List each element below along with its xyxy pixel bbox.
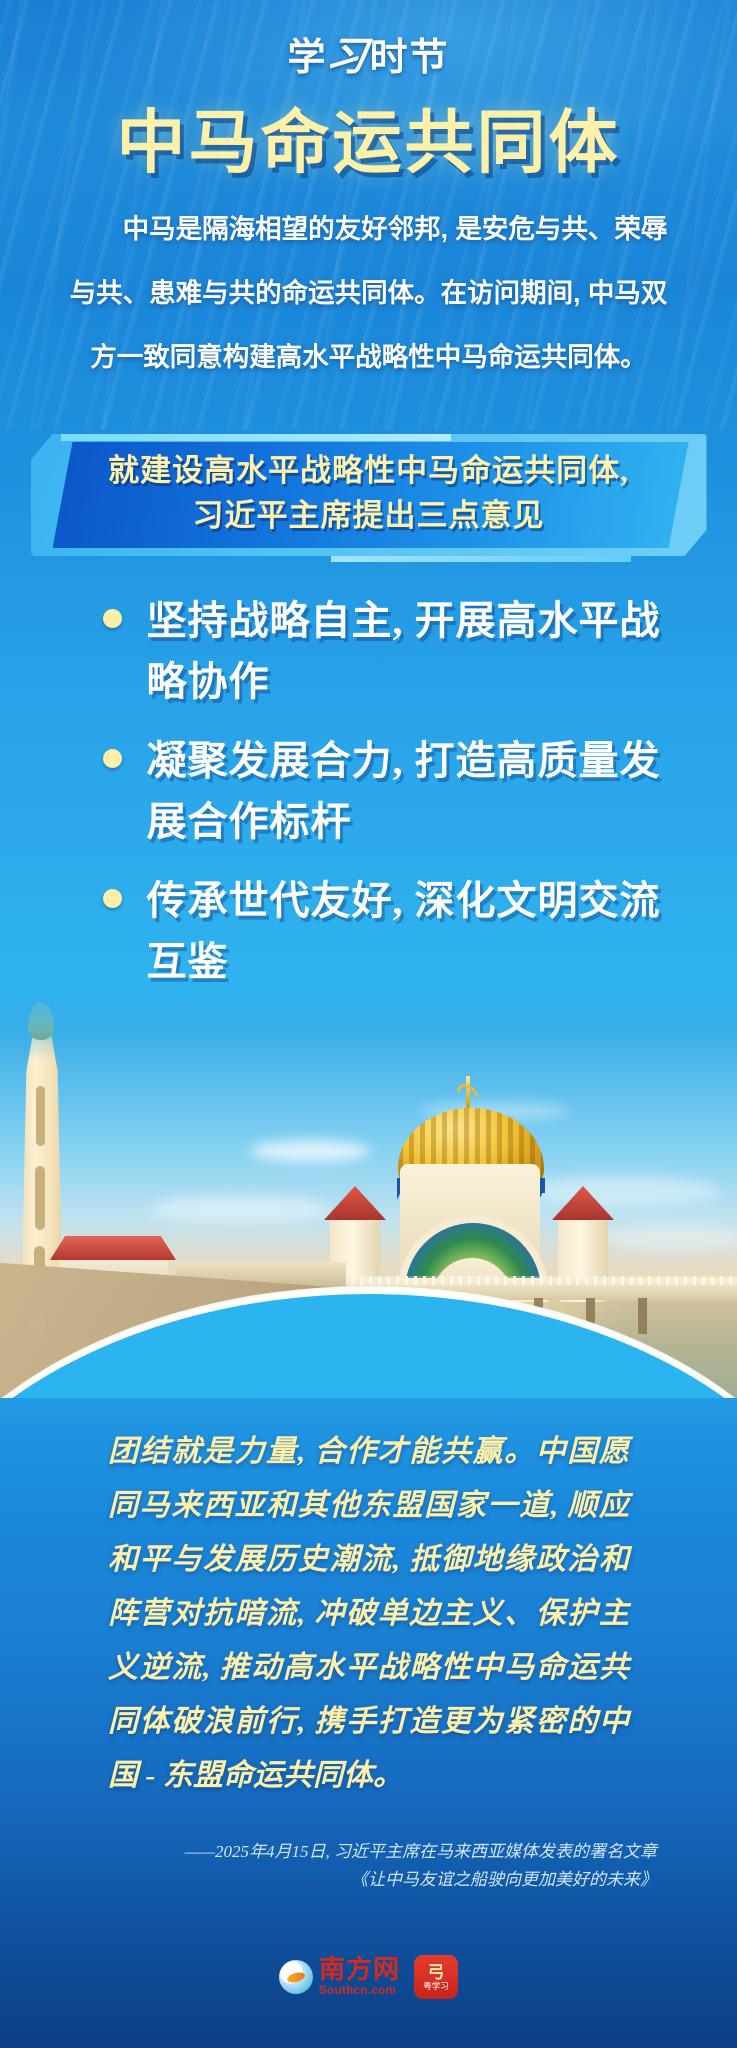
yuexuexi-label: 粤学习 — [423, 1982, 449, 1991]
bullet-dot-icon — [103, 749, 122, 768]
brand-logo: 学习时节 — [0, 0, 737, 74]
bullet-text: 凝聚发展合力, 打造高质量发展合作标杆 — [147, 738, 661, 844]
bullet-dot-icon — [103, 889, 122, 908]
cloud — [150, 1196, 330, 1222]
ribbon-accent-bar-bottom — [331, 556, 631, 562]
list-item: 传承世代友好, 深化文明交流互鉴 — [103, 870, 689, 992]
brand-char-shi: 时 — [369, 37, 409, 79]
bullet-dot-icon — [103, 609, 122, 628]
shore-building-roof — [50, 1236, 176, 1260]
quote-text: 团结就是力量, 合作才能共赢。中国愿同马来西亚和其他东盟国家一道, 顺应和平与发… — [0, 1425, 737, 1803]
quote-attribution: ——2025年4月15日, 习近平主席在马来西亚媒体发表的署名文章 《让中马友谊… — [0, 1838, 737, 1894]
pier-piling — [638, 1298, 647, 1334]
southcn-logo[interactable]: 南方网 Southcn.com — [279, 1957, 400, 1998]
intro-line-1: 中马是隔海相望的友好邻邦, 是安危与共、荣辱 — [69, 208, 669, 250]
brand-char-xue: 学 — [287, 37, 327, 79]
attribution-line-1: ——2025年4月15日, 习近平主席在马来西亚媒体发表的署名文章 — [80, 1838, 657, 1866]
ribbon-text: 就建设高水平战略性中马命运共同体, 习近平主席提出三点意见 — [31, 448, 707, 538]
photo-top-fade — [0, 990, 737, 1060]
brand-logo-text: 学习时节 — [287, 24, 449, 82]
footer-logos: 南方网 Southcn.com 弓 粤学习 — [0, 1955, 737, 1999]
minaret-slit — [36, 1086, 45, 1146]
southcn-mark-icon — [279, 1960, 313, 1994]
brand-char-xi: 习 — [323, 24, 373, 82]
intro-line-3: 方一致同意构建高水平战略性中马命运共同体。 — [69, 336, 669, 378]
mosque-photo — [0, 990, 737, 1398]
southcn-name-cn: 南方网 — [319, 1957, 400, 1983]
brand-char-jie: 节 — [410, 37, 450, 79]
page-title: 中马命运共同体 — [0, 86, 737, 186]
poster-root: 学习时节 中马命运共同体 中马是隔海相望的友好邻邦, 是安危与共、荣辱 与共、患… — [0, 0, 737, 2048]
list-item: 坚持战略自主, 开展高水平战略协作 — [103, 590, 689, 712]
ribbon-line-1: 就建设高水平战略性中马命运共同体, — [31, 448, 707, 493]
ribbon-line-2: 习近平主席提出三点意见 — [31, 493, 707, 538]
intro-line-2: 与共、患难与共的命运共同体。在访问期间, 中马双 — [69, 272, 669, 314]
yuexuexi-logo[interactable]: 弓 粤学习 — [414, 1955, 458, 1999]
bullet-list: 坚持战略自主, 开展高水平战略协作 凝聚发展合力, 打造高质量发展合作标杆 传承… — [49, 590, 689, 992]
southcn-name-en: Southcn.com — [319, 1986, 400, 1998]
bullet-text: 传承世代友好, 深化文明交流互鉴 — [147, 878, 661, 984]
ribbon-accent-bar-top — [61, 434, 451, 441]
cloud — [520, 1176, 720, 1206]
mosque-photo-image — [0, 990, 737, 1398]
cloud — [250, 1140, 370, 1162]
yuexuexi-glyph-icon: 弓 — [428, 1964, 445, 1981]
list-item: 凝聚发展合力, 打造高质量发展合作标杆 — [103, 730, 689, 852]
minaret-slit — [35, 1166, 45, 1230]
bullet-text: 坚持战略自主, 开展高水平战略协作 — [147, 598, 661, 704]
cloud — [600, 1226, 737, 1250]
headline-ribbon: 就建设高水平战略性中马命运共同体, 习近平主席提出三点意见 — [31, 434, 707, 556]
attribution-line-2: 《让中马友谊之船驶向更加美好的未来》 — [80, 1866, 657, 1894]
